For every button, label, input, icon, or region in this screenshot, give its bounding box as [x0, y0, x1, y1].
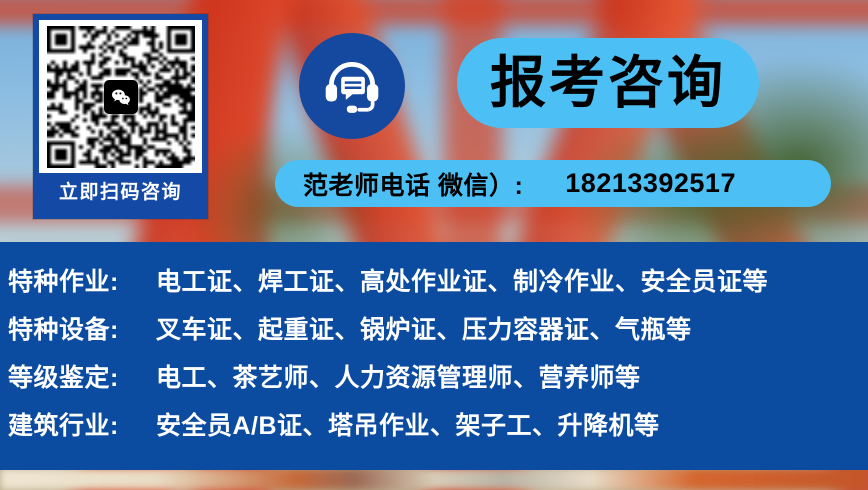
- category-row: 建筑行业: 安全员A/B证、塔吊作业、架子工、升降机等: [8, 406, 868, 454]
- category-value: 叉车证、起重证、锅炉证、压力容器证、气瓶等: [156, 310, 692, 346]
- headset-support-icon: [319, 53, 385, 119]
- qr-code-card[interactable]: 立即扫码咨询: [33, 14, 208, 219]
- category-label: 建筑行业:: [8, 406, 156, 442]
- title-pill: 报考咨询: [457, 38, 759, 128]
- certificate-categories-panel: 特种作业: 电工证、焊工证、高处作业证、制冷作业、安全员证等 特种设备: 叉车证…: [0, 242, 868, 470]
- category-row: 特种设备: 叉车证、起重证、锅炉证、压力容器证、气瓶等: [8, 310, 868, 358]
- qr-caption-label: 立即扫码咨询: [59, 183, 182, 202]
- customer-service-badge[interactable]: [299, 33, 405, 139]
- category-row: 特种作业: 电工证、焊工证、高处作业证、制冷作业、安全员证等: [8, 262, 868, 310]
- title-label: 报考咨询: [490, 55, 726, 111]
- qr-code-image[interactable]: [39, 20, 202, 173]
- background-photo-bottom-strip: [0, 468, 868, 490]
- promo-poster: 立即扫码咨询 报考咨询 范老师电话 微信）: 18213392517 特种作业:…: [0, 0, 868, 490]
- wechat-logo-icon: [104, 80, 138, 114]
- contact-phone-pill[interactable]: 范老师电话 微信）: 18213392517: [275, 160, 831, 207]
- category-value: 电工证、焊工证、高处作业证、制冷作业、安全员证等: [156, 262, 768, 298]
- category-value: 电工、茶艺师、人力资源管理师、营养师等: [156, 358, 641, 394]
- category-label: 特种作业:: [8, 262, 156, 298]
- contact-phone-number[interactable]: 18213392517: [565, 168, 736, 199]
- category-label: 特种设备:: [8, 310, 156, 346]
- category-value: 安全员A/B证、塔吊作业、架子工、升降机等: [156, 406, 660, 442]
- category-row: 等级鉴定: 电工、茶艺师、人力资源管理师、营养师等: [8, 358, 868, 406]
- contact-label: 范老师电话 微信）:: [303, 166, 523, 202]
- category-label: 等级鉴定:: [8, 358, 156, 394]
